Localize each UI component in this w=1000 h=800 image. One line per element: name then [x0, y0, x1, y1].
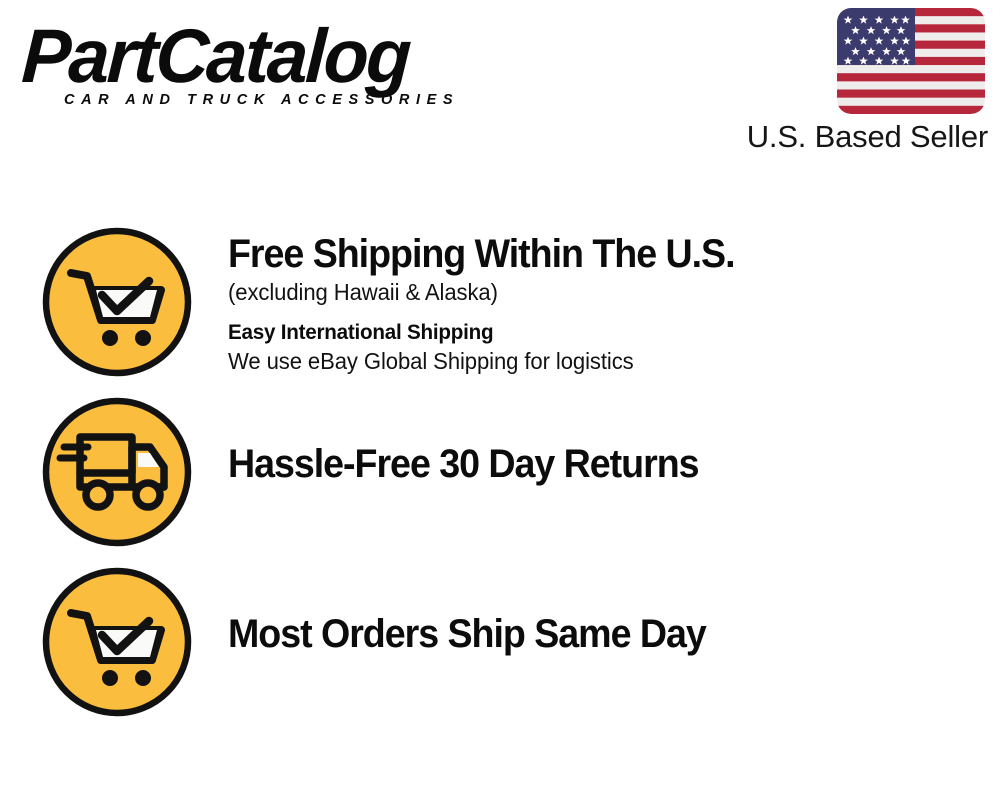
shopping-cart-check-icon: [40, 225, 194, 379]
feature-text: Free Shipping Within The U.S. (excluding…: [198, 225, 1000, 377]
feature-secondary-title: Easy International Shipping: [228, 318, 969, 346]
shopping-cart-check-icon: [40, 565, 194, 719]
feature-text: Most Orders Ship Same Day: [198, 565, 1000, 657]
brand-tagline: CAR AND TRUCK ACCESSORIES: [64, 92, 492, 108]
feature-text: Hassle-Free 30 Day Returns: [198, 395, 1000, 487]
feature-item: Hassle-Free 30 Day Returns: [0, 395, 1000, 549]
feature-icon-wrap: [40, 395, 198, 549]
feature-subtitle: (excluding Hawaii & Alaska): [228, 277, 969, 308]
feature-icon-wrap: [40, 225, 198, 379]
feature-icon-wrap: [40, 565, 198, 719]
brand-wordmark: PartCatalog: [20, 18, 480, 96]
feature-title: Free Shipping Within The U.S.: [228, 231, 954, 277]
banner-header: PartCatalog CAR AND TRUCK ACCESSORIES: [0, 0, 1000, 170]
delivery-truck-icon: [40, 395, 194, 549]
feature-secondary-subtitle: We use eBay Global Shipping for logistic…: [228, 346, 969, 377]
feature-title: Hassle-Free 30 Day Returns: [228, 441, 954, 487]
brand-logo: PartCatalog CAR AND TRUCK ACCESSORIES: [22, 18, 492, 108]
us-based-seller-badge: U.S. Based Seller: [708, 8, 988, 156]
feature-item: Free Shipping Within The U.S. (excluding…: [0, 225, 1000, 379]
us-flag-icon: [837, 8, 985, 114]
feature-title: Most Orders Ship Same Day: [228, 611, 954, 657]
seller-label: U.S. Based Seller: [708, 118, 988, 156]
feature-item: Most Orders Ship Same Day: [0, 565, 1000, 719]
